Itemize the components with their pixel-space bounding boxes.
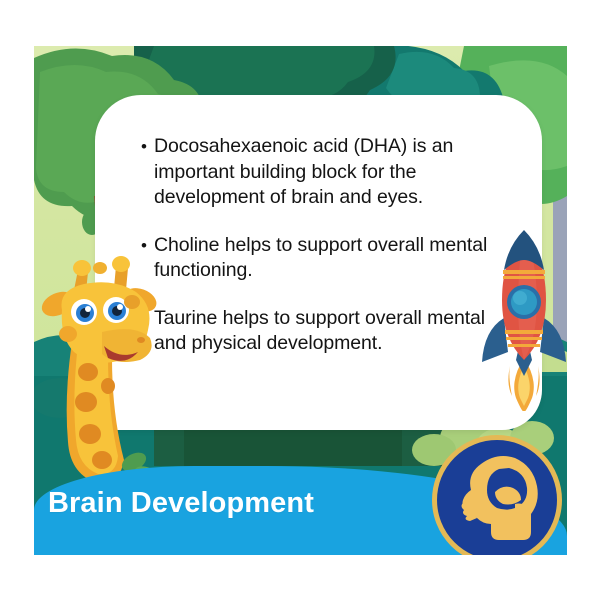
giraffe-illustration — [34, 246, 163, 486]
slide-canvas: • Docosahexaenoic acid (DHA) is an impor… — [0, 0, 600, 600]
bullet-text: Docosahexaenoic acid (DHA) is an importa… — [154, 134, 517, 211]
bullet-text: Choline helps to support overall mental … — [154, 233, 517, 284]
bullet-text: Taurine helps to support overall mental … — [154, 306, 517, 357]
list-item: • Taurine helps to support overall menta… — [141, 306, 517, 357]
page-title: Brain Development — [48, 487, 314, 520]
brain-head-icon — [432, 435, 562, 555]
rocket-illustration — [474, 226, 567, 411]
illustration-frame: • Docosahexaenoic acid (DHA) is an impor… — [34, 46, 567, 555]
bullet-marker: • — [141, 134, 154, 211]
list-item: • Docosahexaenoic acid (DHA) is an impor… — [141, 134, 517, 211]
bullet-list: • Docosahexaenoic acid (DHA) is an impor… — [141, 134, 517, 357]
list-item: • Choline helps to support overall menta… — [141, 233, 517, 284]
